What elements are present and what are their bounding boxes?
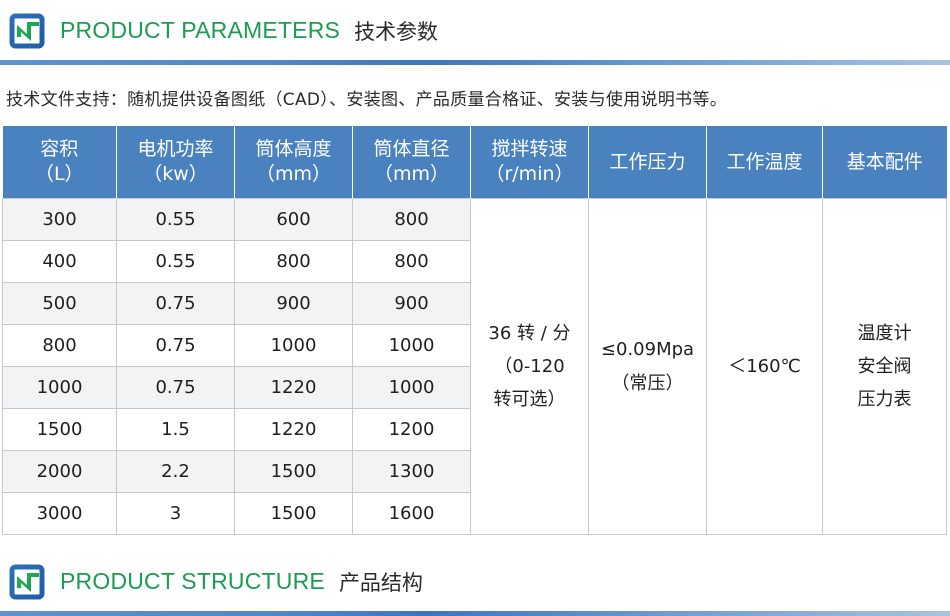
col-header-working-pressure-l1: 工作压力 [609, 151, 685, 173]
cell-diameter: 900 [353, 283, 471, 325]
cell-height: 600 [235, 199, 353, 241]
section-header-row: PRODUCT STRUCTURE 产品结构 [0, 551, 950, 612]
table-header: 容积 （L） 电机功率 （kw） 筒体高度 （mm） 筒体直径 （mm） 搅拌转… [3, 126, 947, 199]
cell-volume: 400 [3, 241, 117, 283]
section-divider-bar [0, 60, 950, 65]
col-header-working-temperature-l1: 工作温度 [726, 151, 802, 173]
cell-diameter: 800 [353, 241, 471, 283]
cell-diameter: 800 [353, 199, 471, 241]
cell-diameter: 1300 [353, 451, 471, 493]
col-header-barrel-diameter-l2: （mm） [355, 162, 468, 187]
section-header-row: PRODUCT PARAMETERS 技术参数 [0, 0, 950, 61]
col-header-motor-power-l1: 电机功率 [137, 138, 213, 160]
col-header-motor-power-l2: （kw） [119, 162, 232, 187]
cell-volume: 1500 [3, 409, 117, 451]
table-body: 300 0.55 600 800 36 转 / 分 （0-120 转可选） ≤0… [3, 199, 947, 535]
working-pressure-line2: （常压） [590, 367, 705, 400]
col-header-working-temperature: 工作温度 [707, 126, 823, 199]
section-header-parameters: PRODUCT PARAMETERS 技术参数 [0, 0, 950, 65]
stir-speed-line1: 36 转 / 分 [472, 317, 587, 350]
col-header-barrel-height: 筒体高度 （mm） [235, 126, 353, 199]
product-parameters-table: 容积 （L） 电机功率 （kw） 筒体高度 （mm） 筒体直径 （mm） 搅拌转… [2, 126, 947, 535]
spec-table-wrapper: 容积 （L） 电机功率 （kw） 筒体高度 （mm） 筒体直径 （mm） 搅拌转… [0, 126, 950, 535]
accessory-line1: 温度计 [824, 317, 945, 350]
cell-diameter: 1000 [353, 325, 471, 367]
col-header-barrel-height-l2: （mm） [237, 162, 350, 187]
working-temperature-line1: ＜160℃ [708, 350, 821, 383]
cell-power: 0.55 [117, 241, 235, 283]
cell-stir-speed-merged: 36 转 / 分 （0-120 转可选） [471, 199, 589, 535]
col-header-basic-accessories-l1: 基本配件 [847, 151, 923, 173]
col-header-stir-speed-l1: 搅拌转速 [491, 138, 567, 160]
stir-speed-line3: 转可选） [472, 383, 587, 416]
cell-volume: 1000 [3, 367, 117, 409]
accessory-line3: 压力表 [824, 383, 945, 416]
section-header-structure: PRODUCT STRUCTURE 产品结构 [0, 551, 950, 616]
section-title-en: PRODUCT PARAMETERS [60, 17, 340, 44]
cell-height: 1500 [235, 451, 353, 493]
cell-diameter: 1600 [353, 493, 471, 535]
cell-power: 2.2 [117, 451, 235, 493]
col-header-barrel-diameter: 筒体直径 （mm） [353, 126, 471, 199]
col-header-stir-speed: 搅拌转速 （r/min） [471, 126, 589, 199]
col-header-volume-l2: （L） [5, 162, 115, 187]
cell-power: 0.55 [117, 199, 235, 241]
cell-power: 0.75 [117, 283, 235, 325]
stir-speed-line2: （0-120 [472, 350, 587, 383]
cell-volume: 500 [3, 283, 117, 325]
cell-working-pressure-merged: ≤0.09Mpa （常压） [589, 199, 707, 535]
table-header-row: 容积 （L） 电机功率 （kw） 筒体高度 （mm） 筒体直径 （mm） 搅拌转… [3, 126, 947, 199]
col-header-volume-l1: 容积 [40, 138, 78, 160]
col-header-barrel-height-l1: 筒体高度 [255, 138, 331, 160]
cell-working-temperature-merged: ＜160℃ [707, 199, 823, 535]
cell-power: 3 [117, 493, 235, 535]
cell-height: 800 [235, 241, 353, 283]
col-header-motor-power: 电机功率 （kw） [117, 126, 235, 199]
cell-height: 1500 [235, 493, 353, 535]
working-pressure-line1: ≤0.09Mpa [590, 333, 705, 366]
cell-height: 1220 [235, 367, 353, 409]
green-zigzag-logo-icon [8, 563, 46, 601]
cell-power: 1.5 [117, 409, 235, 451]
col-header-volume: 容积 （L） [3, 126, 117, 199]
cell-basic-accessories-merged: 温度计 安全阀 压力表 [823, 199, 947, 535]
section-title-cn: 技术参数 [354, 16, 438, 46]
cell-height: 900 [235, 283, 353, 325]
table-row: 300 0.55 600 800 36 转 / 分 （0-120 转可选） ≤0… [3, 199, 947, 241]
col-header-barrel-diameter-l1: 筒体直径 [373, 138, 449, 160]
section-title-cn: 产品结构 [339, 567, 423, 597]
cell-power: 0.75 [117, 367, 235, 409]
cell-volume: 300 [3, 199, 117, 241]
accessory-line2: 安全阀 [824, 350, 945, 383]
cell-volume: 2000 [3, 451, 117, 493]
cell-diameter: 1200 [353, 409, 471, 451]
cell-volume: 800 [3, 325, 117, 367]
cell-diameter: 1000 [353, 367, 471, 409]
cell-height: 1000 [235, 325, 353, 367]
green-zigzag-logo-icon [8, 12, 46, 50]
section-title-en: PRODUCT STRUCTURE [60, 568, 325, 595]
col-header-working-pressure: 工作压力 [589, 126, 707, 199]
cell-power: 0.75 [117, 325, 235, 367]
technical-documents-note: 技术文件支持：随机提供设备图纸（CAD）、安装图、产品质量合格证、安装与使用说明… [0, 65, 950, 126]
col-header-stir-speed-l2: （r/min） [473, 162, 586, 187]
section-divider-bar [0, 611, 950, 616]
cell-height: 1220 [235, 409, 353, 451]
col-header-basic-accessories: 基本配件 [823, 126, 947, 199]
cell-volume: 3000 [3, 493, 117, 535]
